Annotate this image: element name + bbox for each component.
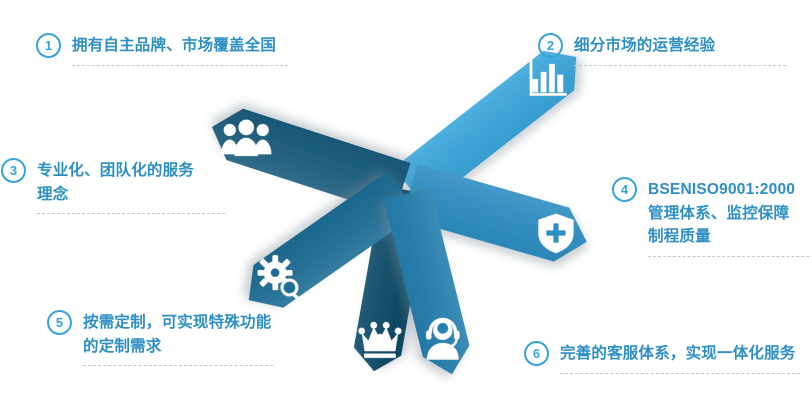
item-3-text-wrap: 专业化、团队化的服务 理念 bbox=[37, 158, 225, 214]
item-1-text-wrap: 拥有自主品牌、市场覆盖全国 bbox=[72, 33, 288, 66]
item-6-divider bbox=[560, 373, 800, 374]
item-4-label: BSENISO9001:2000 管理体系、监控保障 制程质量 bbox=[648, 178, 812, 249]
callout-item-1[interactable]: 1 拥有自主品牌、市场覆盖全国 bbox=[36, 33, 288, 66]
item-2-text-wrap: 细分市场的运营经验 bbox=[574, 33, 786, 66]
item-1-divider bbox=[72, 65, 288, 66]
item-5-label: 按需定制，可实现特殊功能 的定制需求 bbox=[83, 311, 273, 358]
item-2-label: 细分市场的运营经验 bbox=[574, 34, 786, 58]
item-6-label: 完善的客服体系，实现一体化服务 bbox=[560, 342, 800, 366]
item-4-number-badge: 4 bbox=[612, 177, 637, 202]
callout-item-5[interactable]: 5 按需定制，可实现特殊功能 的定制需求 bbox=[47, 310, 273, 366]
callout-item-2[interactable]: 2 细分市场的运营经验 bbox=[538, 33, 786, 66]
item-2-number-badge: 2 bbox=[538, 33, 563, 58]
item-4-divider bbox=[648, 256, 812, 257]
item-2-divider bbox=[574, 65, 786, 66]
item-6-text-wrap: 完善的客服体系，实现一体化服务 bbox=[560, 341, 800, 374]
infographic-canvas: 1 拥有自主品牌、市场覆盖全国 2 细分市场的运营经验 3 专业化、团队化的服务… bbox=[0, 0, 812, 406]
item-5-number-badge: 5 bbox=[47, 310, 72, 335]
item-5-text-wrap: 按需定制，可实现特殊功能 的定制需求 bbox=[83, 310, 273, 366]
callout-item-3[interactable]: 3 专业化、团队化的服务 理念 bbox=[1, 158, 225, 214]
callout-item-4[interactable]: 4 BSENISO9001:2000 管理体系、监控保障 制程质量 bbox=[612, 177, 812, 257]
item-1-number-badge: 1 bbox=[36, 33, 61, 58]
item-6-number-badge: 6 bbox=[524, 341, 549, 366]
item-5-divider bbox=[83, 365, 273, 366]
item-4-text-wrap: BSENISO9001:2000 管理体系、监控保障 制程质量 bbox=[648, 177, 812, 257]
item-3-number-badge: 3 bbox=[1, 158, 26, 183]
item-3-divider bbox=[37, 213, 225, 214]
item-3-label: 专业化、团队化的服务 理念 bbox=[37, 159, 225, 206]
item-1-label: 拥有自主品牌、市场覆盖全国 bbox=[72, 34, 288, 58]
callout-item-6[interactable]: 6 完善的客服体系，实现一体化服务 bbox=[524, 341, 800, 374]
